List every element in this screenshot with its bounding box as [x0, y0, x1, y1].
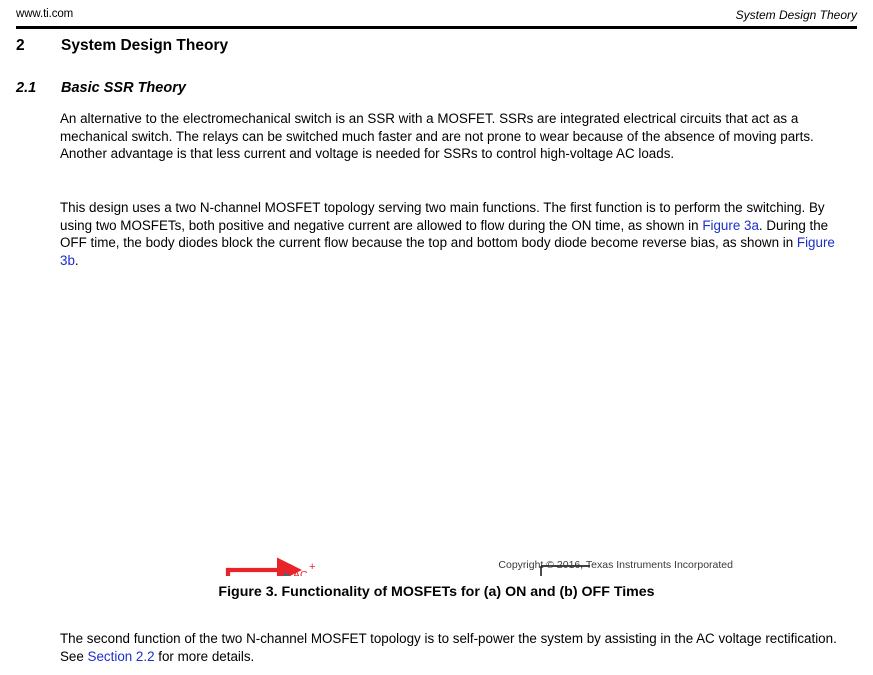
heading-level-1: 2System Design Theory	[16, 37, 716, 55]
figure-3-caption: Figure 3. Functionality of MOSFETs for (…	[0, 584, 873, 600]
paragraph-3-text-b: for more details.	[155, 649, 255, 664]
paragraph-2-text-c: .	[75, 253, 79, 268]
link-section-2-2[interactable]: Section 2.2	[88, 649, 155, 664]
header-section-title: System Design Theory	[736, 8, 857, 22]
figure-copyright-notice: Copyright © 2016, Texas Instruments Inco…	[0, 559, 733, 571]
body-paragraph-2: This design uses a two N-channel MOSFET …	[60, 199, 838, 269]
heading-1-title: System Design Theory	[61, 37, 228, 54]
heading-1-number: 2	[16, 37, 61, 55]
header-divider-rule	[16, 26, 857, 29]
heading-2-title: Basic SSR Theory	[61, 80, 186, 96]
body-paragraph-3: The second function of the two N-channel…	[60, 630, 838, 665]
link-figure-3a[interactable]: Figure 3a	[702, 218, 759, 233]
body-paragraph-1: An alternative to the electromechanical …	[60, 110, 838, 163]
figure-3-graphic: ON ON + I AC + I AC - I AC	[0, 276, 873, 576]
paragraph-1-text: An alternative to the electromechanical …	[60, 111, 814, 161]
heading-2-number: 2.1	[16, 80, 61, 96]
header-site-url: www.ti.com	[16, 8, 73, 20]
heading-level-2: 2.1Basic SSR Theory	[16, 80, 716, 96]
